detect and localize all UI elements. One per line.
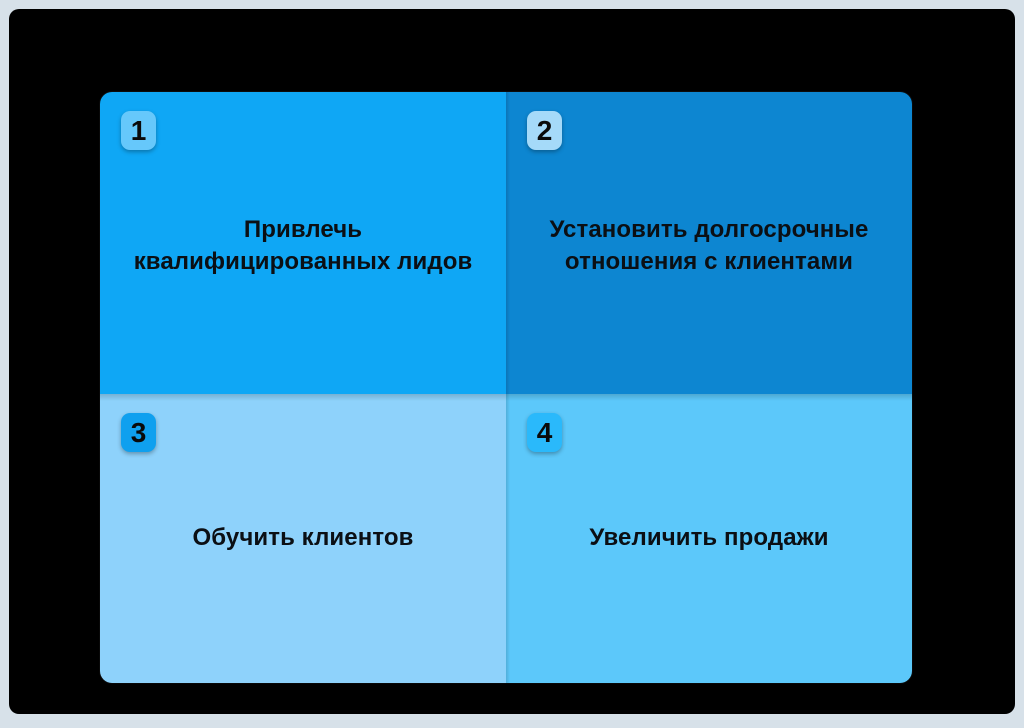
quadrant-2[interactable]: 2 Установить долгосрочные отношения с кл… — [506, 92, 912, 394]
quadrant-matrix: 1 Привлечь квалифицированных лидов 2 Уст… — [100, 92, 912, 683]
quadrant-1-badge: 1 — [121, 111, 156, 150]
slide-canvas: 1 Привлечь квалифицированных лидов 2 Уст… — [9, 9, 1015, 714]
quadrant-1[interactable]: 1 Привлечь квалифицированных лидов — [100, 92, 506, 394]
quadrant-2-badge-number: 2 — [537, 117, 553, 145]
quadrant-2-label: Установить долгосрочные отношения с клие… — [550, 214, 869, 277]
quadrant-1-badge-number: 1 — [131, 117, 147, 145]
quadrant-3-label: Обучить клиентов — [193, 522, 414, 554]
screen-frame: 1 Привлечь квалифицированных лидов 2 Уст… — [0, 0, 1024, 728]
quadrant-4[interactable]: 4 Увеличить продажи — [506, 394, 912, 683]
quadrant-2-badge: 2 — [527, 111, 562, 150]
quadrant-3[interactable]: 3 Обучить клиентов — [100, 394, 506, 683]
quadrant-4-badge: 4 — [527, 413, 562, 452]
quadrant-1-label: Привлечь квалифицированных лидов — [134, 214, 473, 277]
quadrant-3-badge-number: 3 — [131, 419, 147, 447]
quadrant-4-label: Увеличить продажи — [589, 522, 828, 554]
quadrant-3-badge: 3 — [121, 413, 156, 452]
quadrant-4-badge-number: 4 — [537, 419, 553, 447]
